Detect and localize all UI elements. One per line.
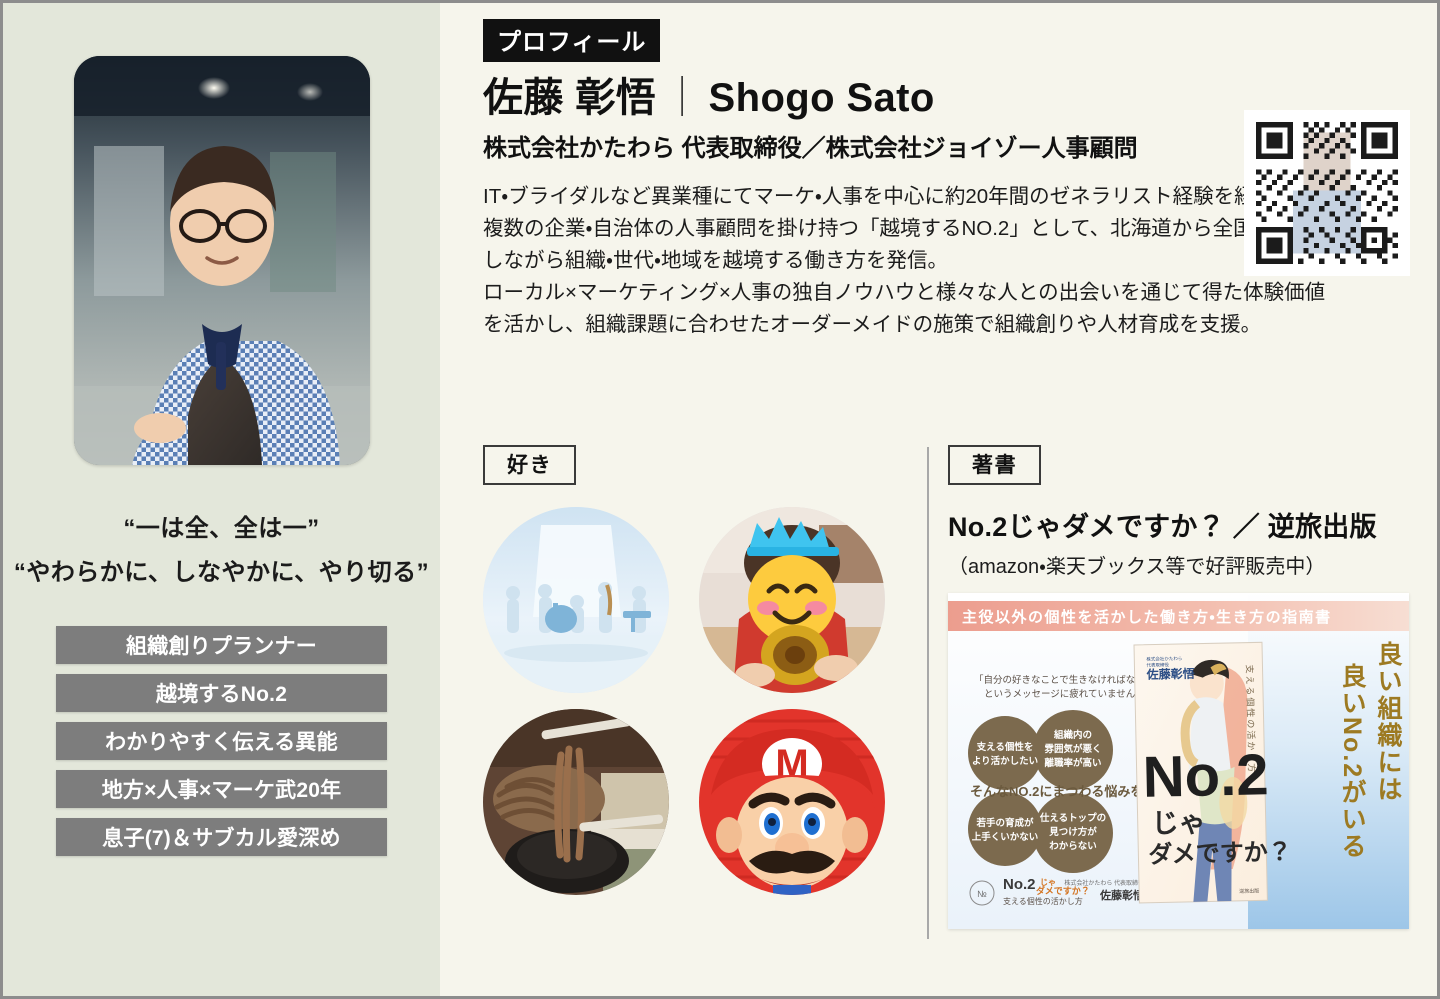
svg-text:組織内の: 組織内の (1053, 729, 1092, 741)
svg-text:佐藤彰悟: 佐藤彰悟 (1099, 888, 1144, 902)
profile-slide: “一は全、全は一” “やわらかに、しなやかに、やり切る” 組織創りプランナー 越… (0, 0, 1440, 999)
svg-text:上手くいかない: 上手くいかない (972, 831, 1039, 843)
svg-text:わからない: わからない (1049, 841, 1097, 852)
quote-line-2: “やわらかに、しなやかに、やり切る” (3, 551, 440, 595)
right-panel: プロフィール 佐藤 彰悟｜Shogo Sato 株式会社かたわら 代表取締役／株… (440, 3, 1437, 996)
tag-item: 越境するNo.2 (56, 674, 387, 712)
svg-text:見つけ方が: 見つけ方が (1048, 826, 1097, 838)
quotes: “一は全、全は一” “やわらかに、しなやかに、やり切る” (3, 507, 440, 596)
svg-text:ダメですか？: ダメですか？ (1148, 838, 1292, 869)
quote-line-1: “一は全、全は一” (3, 507, 440, 551)
ad-top-strip-text: 主役以外の個性を活かした働き方・生き方の指南書 (962, 608, 1332, 626)
svg-text:No.2: No.2 (1142, 742, 1269, 810)
svg-text:佐藤彰悟: 佐藤彰悟 (1145, 666, 1194, 682)
svg-text:No.2: No.2 (1003, 876, 1036, 893)
book-advertisement-image: 主役以外の個性を活かした働き方・生き方の指南書 「自分の好きなことで生きなければ… (948, 593, 1409, 929)
name-english: Shogo Sato (709, 76, 935, 120)
tag-item: 地方×人事×マーケ武20年 (56, 770, 387, 808)
page-title: 佐藤 彰悟｜Shogo Sato (483, 65, 935, 123)
favorites-label: 好き (483, 445, 576, 485)
books-section: 著書 No.2じゃダメですか？ ／ 逆旅出版 （amazon・楽天ブックス等で好… (948, 445, 1413, 929)
svg-text:良いNo.2がいる: 良いNo.2がいる (1338, 663, 1366, 860)
left-panel: “一は全、全は一” “やわらかに、しなやかに、やり切る” 組織創りプランナー 越… (3, 3, 440, 996)
book-title: No.2じゃダメですか？ ／ 逆旅出版 (948, 505, 1413, 544)
bio-line: を活かし、組織課題に合わせたオーダーメイドの施策で組織創りや人材育成を支援。 (483, 309, 1403, 341)
svg-text:というメッセージに疲れていませんか？: というメッセージに疲れていませんか？ (984, 688, 1154, 700)
svg-text:じゃ: じゃ (1151, 808, 1206, 839)
organization-line: 株式会社かたわら 代表取締役／株式会社ジョイゾー人事顧問 (483, 128, 1138, 163)
bio-line: ローカル×マーケティング×人事の独自ノウハウと様々な人との出会いを通じて得た体験… (483, 277, 1403, 309)
child-with-crown-photo (699, 507, 885, 693)
tag-item: 組織創りプランナー (56, 626, 387, 664)
svg-text:株式会社かたわら 代表取締役: 株式会社かたわら 代表取締役 (1064, 879, 1144, 887)
qr-code[interactable] (1244, 110, 1410, 276)
portrait-photo (74, 56, 370, 465)
svg-text:離職率が高い: 離職率が高い (1044, 757, 1101, 769)
svg-text:支える個性を: 支える個性を (976, 741, 1034, 753)
svg-text:支える個性の活かし方: 支える個性の活かし方 (1003, 896, 1083, 906)
name-japanese: 佐藤 彰悟 (483, 76, 656, 120)
soba-noodles-photo (483, 709, 669, 895)
svg-text:若手の育成が: 若手の育成が (975, 817, 1034, 829)
books-label: 著書 (948, 445, 1041, 485)
svg-text:雰囲気が悪く: 雰囲気が悪く (1043, 743, 1101, 755)
svg-text:良い組織には: 良い組織には (1374, 641, 1404, 803)
svg-text:より活かしたい: より活かしたい (972, 755, 1038, 767)
svg-text:仕えるトップの: 仕えるトップの (1039, 812, 1106, 824)
mario-character-photo: M (699, 709, 885, 895)
section-divider (927, 447, 929, 939)
tag-item: 息子(7)＆サブカル愛深め (56, 818, 387, 856)
favorites-section: 好き (483, 445, 885, 895)
profile-section-chip: プロフィール (483, 19, 660, 62)
favorites-grid: M (483, 507, 885, 895)
tag-list: 組織創りプランナー 越境するNo.2 わかりやすく伝える異能 地方×人事×マーケ… (3, 626, 440, 856)
svg-text:№: № (977, 889, 987, 899)
svg-text:逆旅出版: 逆旅出版 (1239, 887, 1259, 894)
name-separator: ｜ (656, 76, 708, 120)
tag-item: わかりやすく伝える異能 (56, 722, 387, 760)
band-performance-photo (483, 507, 669, 693)
book-subtitle: （amazon・楽天ブックス等で好評販売中） (948, 550, 1413, 579)
